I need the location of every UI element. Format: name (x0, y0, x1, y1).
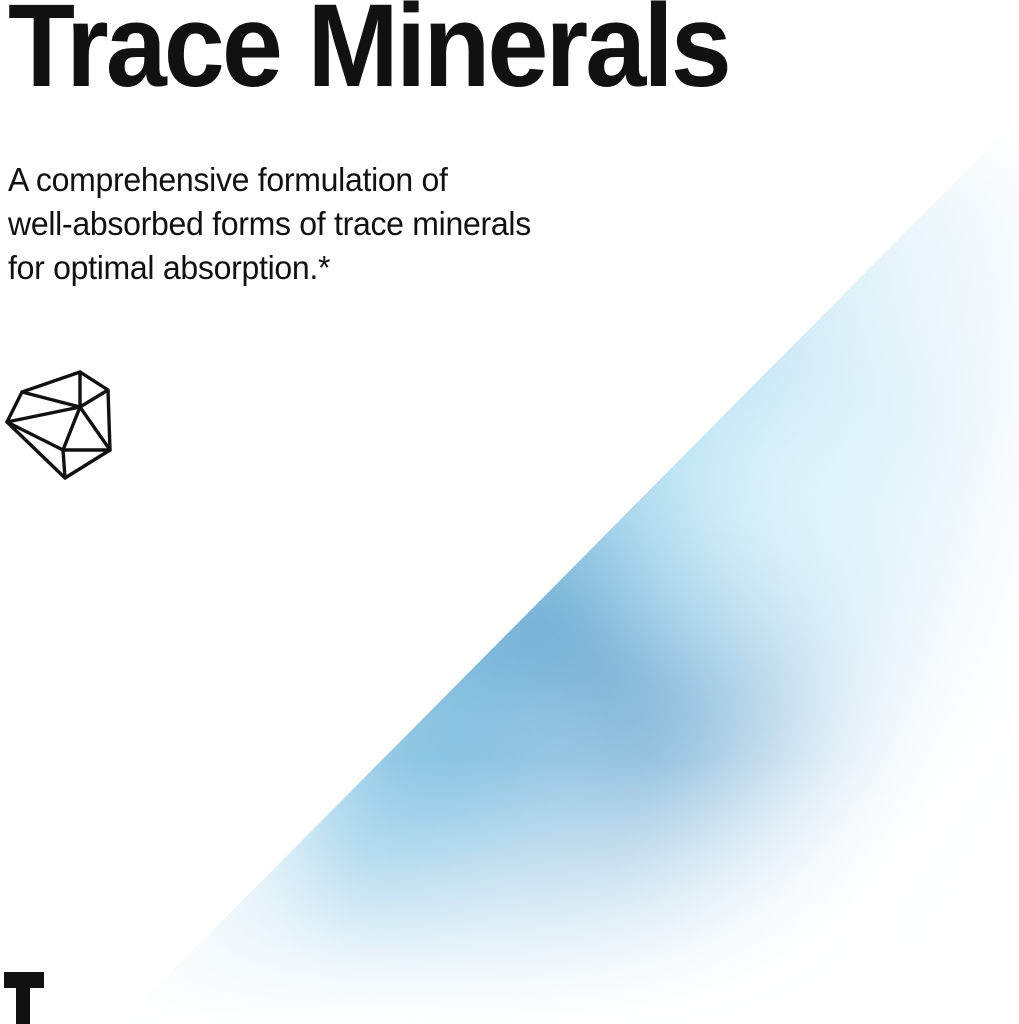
mineral-crystal-icon (2, 363, 122, 487)
subtitle-line-3: for optimal absorption.* (8, 246, 531, 290)
page-title: Trace Minerals (8, 0, 729, 109)
subtitle-line-1: A comprehensive formulation of (8, 158, 531, 202)
brand-t-logo[interactable] (2, 966, 62, 1024)
hero-content: Trace Minerals A comprehensive formulati… (0, 0, 1019, 1024)
subtitle-line-2: well-absorbed forms of trace minerals (8, 202, 531, 246)
mineral-crystal-icon-svg (2, 363, 122, 487)
brand-t-logo-svg (2, 966, 62, 1024)
page-subtitle: A comprehensive formulation of well-abso… (8, 158, 531, 290)
product-hero-card: Trace Minerals A comprehensive formulati… (0, 0, 1019, 1024)
